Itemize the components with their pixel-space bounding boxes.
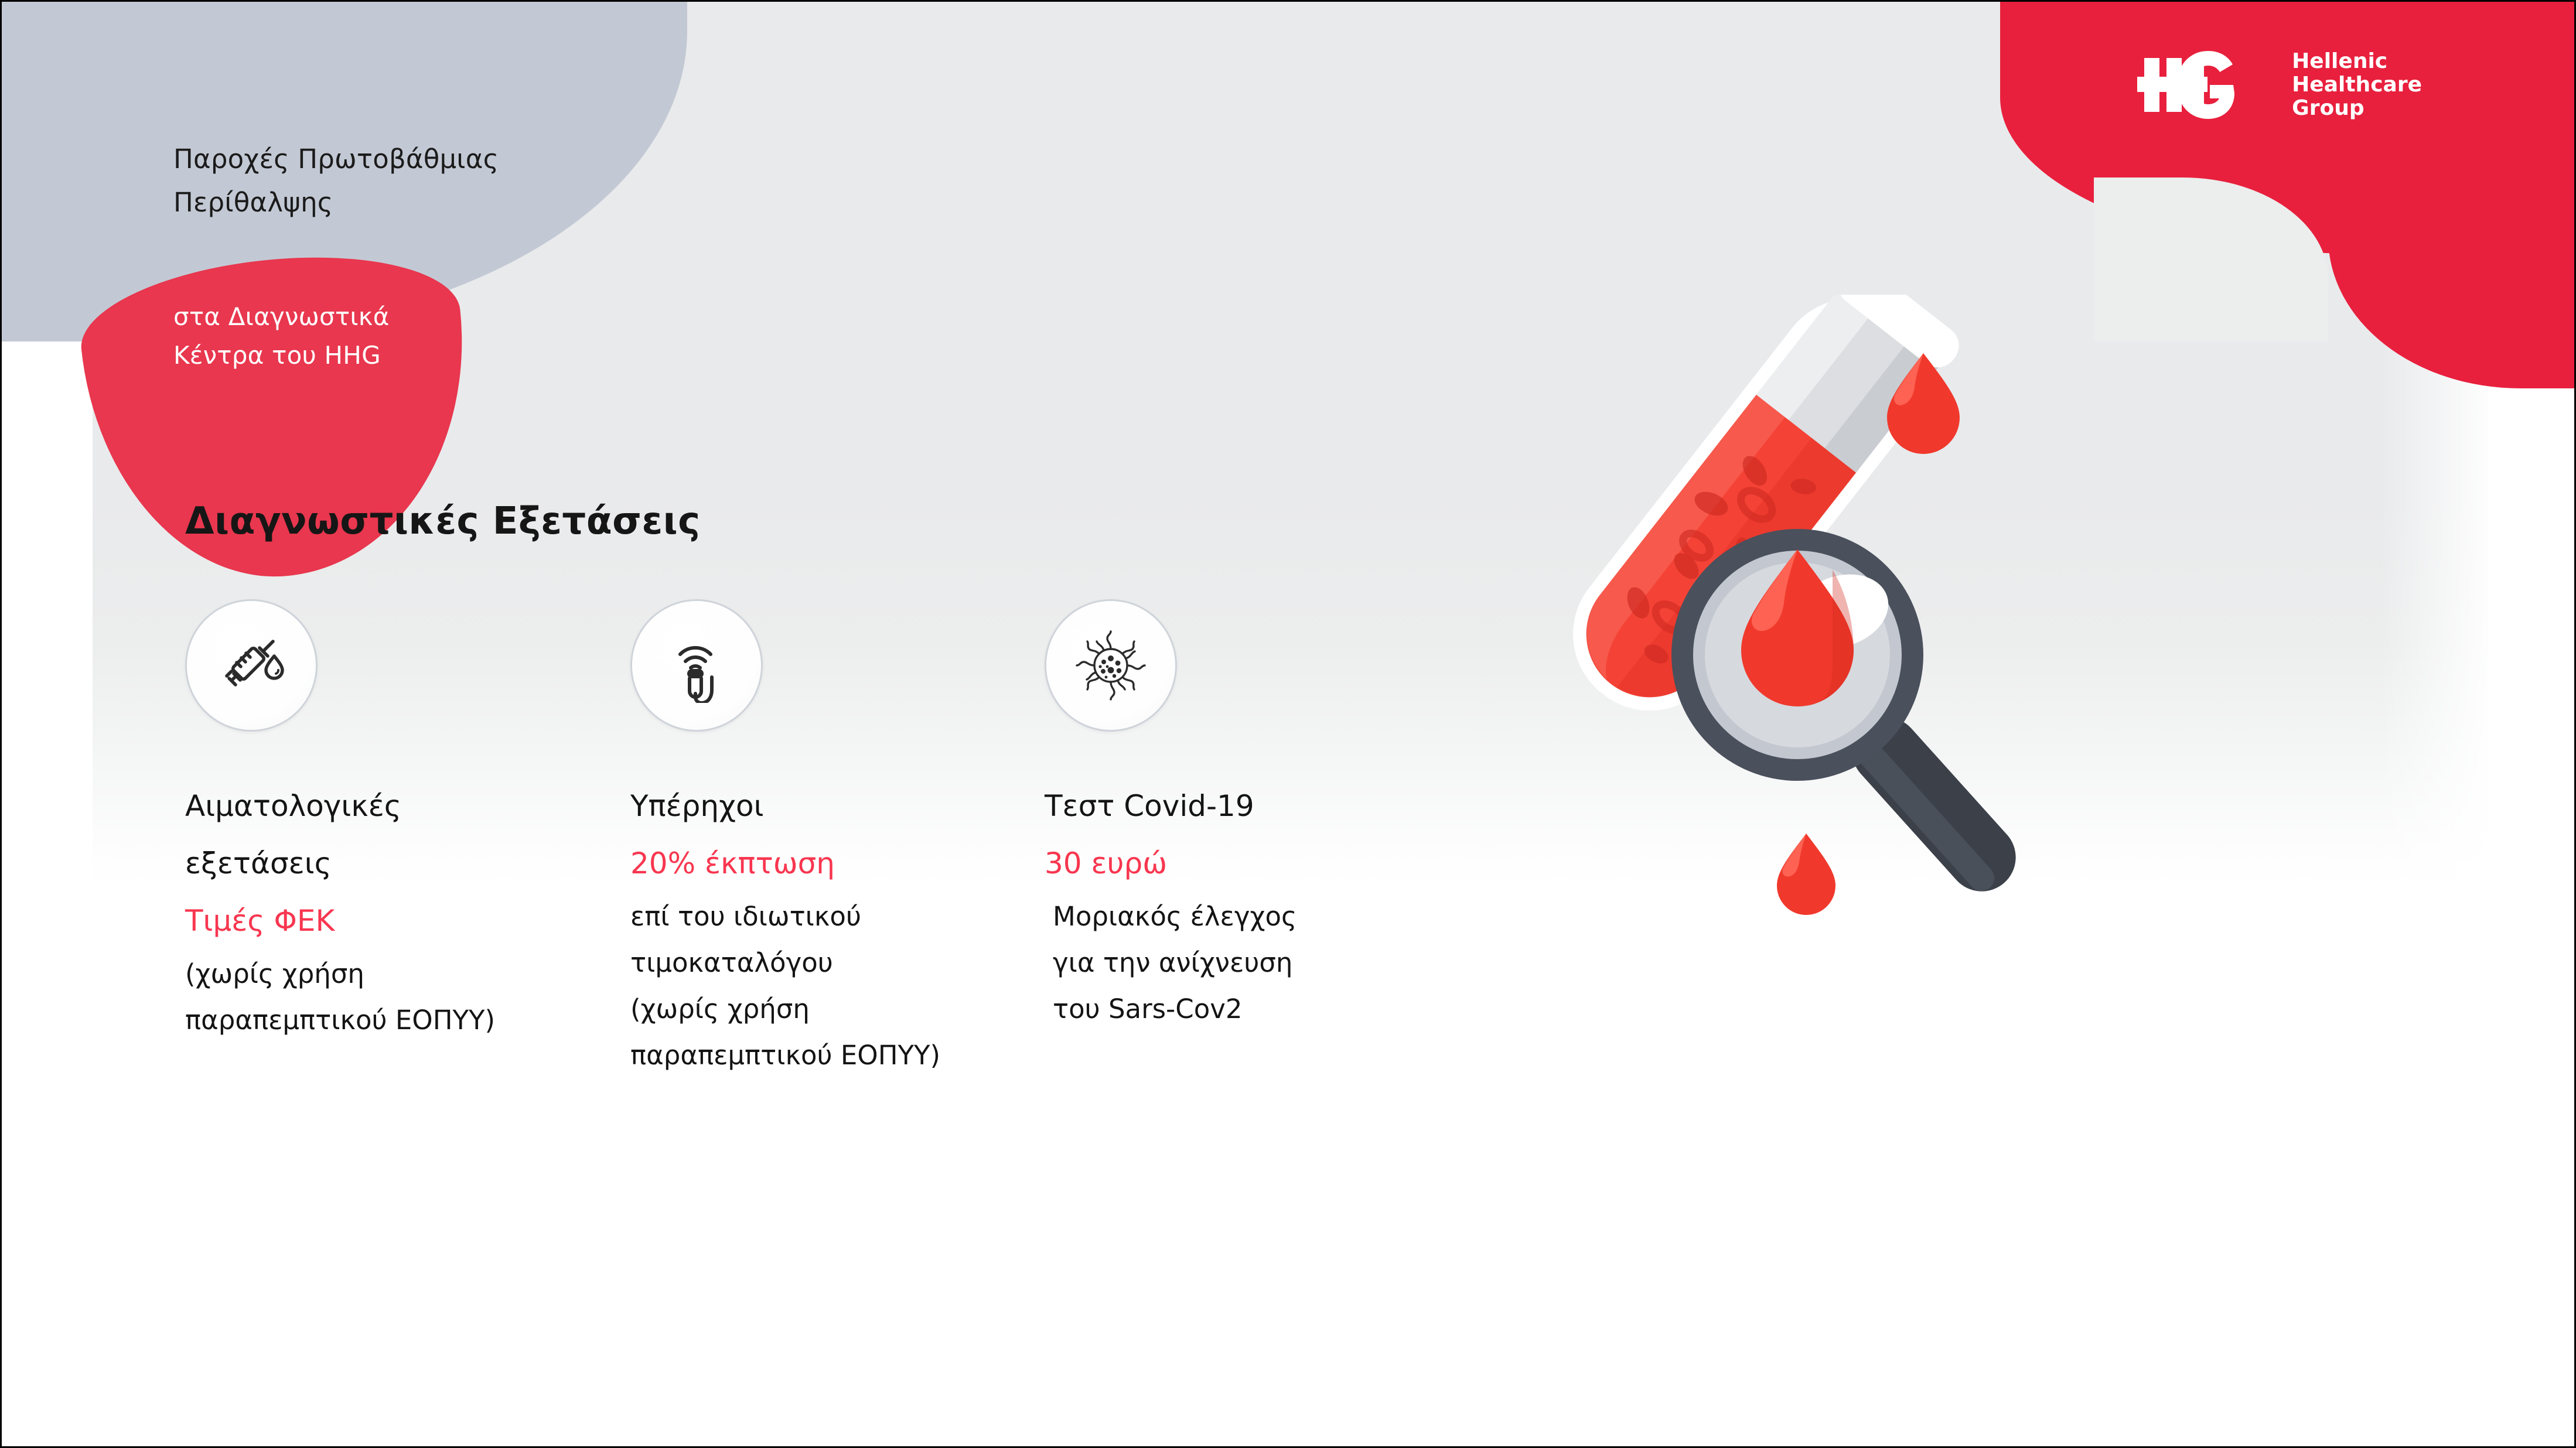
logo-line-1: Hellenic [2292, 50, 2422, 73]
header-subtitle-primary-care: Παροχές Πρωτοβάθμιας Περίθαλψης [173, 138, 499, 224]
service-column-ultrasound: Υπέρηχοι 20% έκπτωση επί του ιδιωτικού τ… [630, 599, 958, 1078]
logo-line-2: Healthcare [2292, 73, 2422, 97]
hhg-logo: Hellenic Healthcare Group [2135, 50, 2422, 120]
column-price: 30 ευρώ [1045, 843, 1373, 884]
syringe-blood-drop-icon [185, 599, 318, 732]
logo-line-3: Group [2292, 97, 2422, 120]
virus-icon [1045, 599, 1177, 732]
column-price: Τιμές ΦΕΚ [185, 900, 513, 941]
column-note: Μοριακός έλεγχος για την ανίχνευση του S… [1053, 893, 1373, 1032]
column-title: Τεστ Covid-19 [1045, 777, 1373, 835]
column-price: 20% έκπτωση [630, 843, 958, 884]
column-title: Υπέρηχοι [630, 777, 958, 835]
header-subtitle-diagnostic-centers: στα Διαγνωστικά Κέντρα του HHG [173, 298, 390, 375]
service-column-hematology: Αιματολογικές εξετάσεις Τιμές ΦΕΚ (χωρίς… [185, 599, 513, 1043]
ultrasound-probe-icon [630, 599, 763, 732]
column-note: (χωρίς χρήση παραπεμπτικού ΕΟΠΥΥ) [185, 951, 513, 1043]
page-title: Διαγνωστικές Εξετάσεις [185, 500, 701, 543]
hhg-logomark-icon [2135, 50, 2281, 120]
blood-test-tube-magnifier-illustration [1455, 295, 2111, 986]
column-title: Αιματολογικές εξετάσεις [185, 777, 513, 892]
slide-root: Hellenic Healthcare Group Παροχές Πρωτοβ… [0, 0, 2576, 1448]
column-note: επί του ιδιωτικού τιμοκαταλόγου (χωρίς χ… [630, 893, 958, 1078]
service-column-covid-test: Τεστ Covid-19 30 ευρώ Μοριακός έλεγχος γ… [1045, 599, 1373, 1032]
magnifying-glass [1671, 529, 2030, 906]
blood-drop-bottom [1777, 834, 1835, 915]
